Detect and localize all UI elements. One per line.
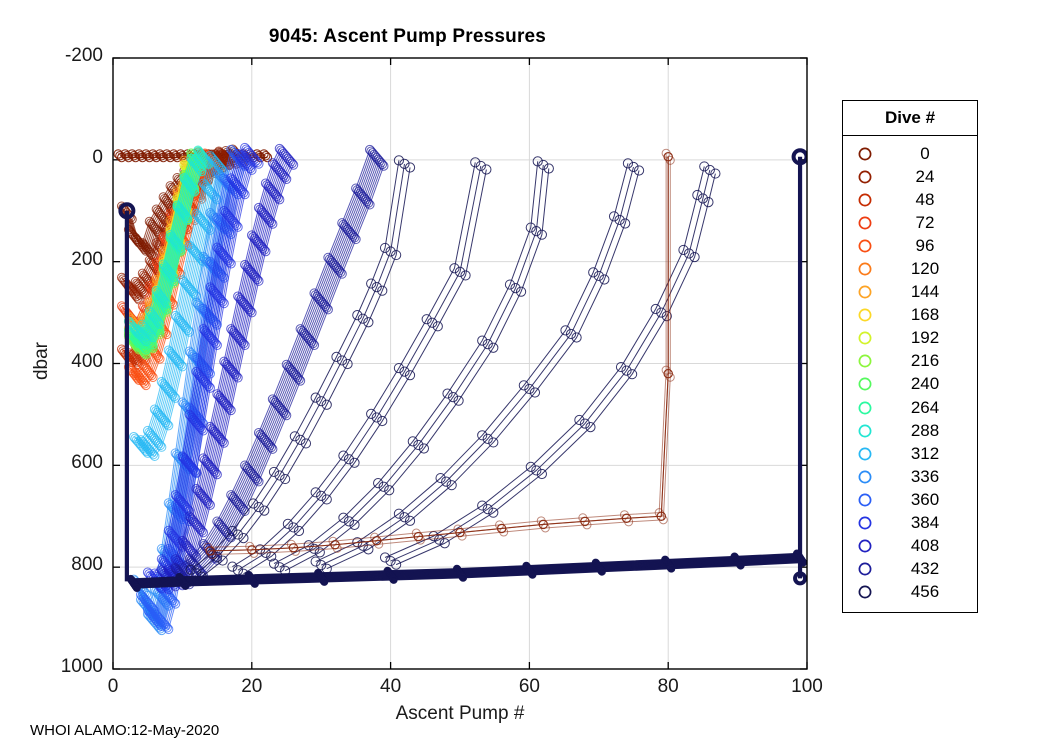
legend-label: 120	[887, 259, 977, 279]
y-tick-label: 0	[33, 147, 103, 169]
circle-marker-icon	[843, 469, 887, 485]
legend-row[interactable]: 264	[843, 396, 977, 419]
y-tick-label: -200	[33, 45, 103, 67]
legend-row[interactable]: 72	[843, 211, 977, 234]
legend-row[interactable]: 192	[843, 327, 977, 350]
y-tick-label: 400	[33, 351, 103, 373]
x-tick-label: 60	[494, 676, 564, 698]
legend-label: 240	[887, 374, 977, 394]
legend-title: Dive #	[843, 101, 977, 136]
legend-row[interactable]: 168	[843, 304, 977, 327]
circle-marker-icon	[843, 146, 887, 162]
legend-label: 408	[887, 536, 977, 556]
x-tick-label: 80	[633, 676, 703, 698]
circle-marker-icon	[843, 400, 887, 416]
circle-marker-icon	[843, 192, 887, 208]
legend-label: 168	[887, 305, 977, 325]
legend-row[interactable]: 48	[843, 188, 977, 211]
legend-row[interactable]: 336	[843, 465, 977, 488]
circle-marker-icon	[843, 261, 887, 277]
legend-label: 312	[887, 444, 977, 464]
circle-marker-icon	[843, 330, 887, 346]
legend-row[interactable]: 216	[843, 350, 977, 373]
circle-marker-icon	[843, 284, 887, 300]
legend-row[interactable]: 0	[843, 142, 977, 165]
x-tick-label: 100	[772, 676, 842, 698]
legend-label: 336	[887, 467, 977, 487]
legend-row[interactable]: 96	[843, 234, 977, 257]
legend-row[interactable]: 24	[843, 165, 977, 188]
footer-caption: WHOI ALAMO:12-May-2020	[30, 722, 219, 739]
legend-box: Dive # 024487296120144168192216240264288…	[842, 100, 978, 613]
legend-row[interactable]: 384	[843, 512, 977, 535]
y-tick-label: 800	[33, 554, 103, 576]
legend-label: 288	[887, 421, 977, 441]
legend-row[interactable]: 312	[843, 442, 977, 465]
legend-row[interactable]: 288	[843, 419, 977, 442]
x-tick-label: 0	[78, 676, 148, 698]
legend-row[interactable]: 144	[843, 281, 977, 304]
x-tick-label: 20	[217, 676, 287, 698]
legend-label: 192	[887, 328, 977, 348]
y-tick-label: 1000	[33, 656, 103, 678]
legend-row[interactable]: 408	[843, 535, 977, 558]
legend-row[interactable]: 432	[843, 558, 977, 581]
legend-row[interactable]: 240	[843, 373, 977, 396]
page-title: 9045: Ascent Pump Pressures	[0, 26, 815, 48]
circle-marker-icon	[843, 215, 887, 231]
circle-marker-icon	[843, 423, 887, 439]
circle-marker-icon	[843, 515, 887, 531]
legend-row[interactable]: 360	[843, 488, 977, 511]
legend-label: 48	[887, 190, 977, 210]
legend-label: 264	[887, 398, 977, 418]
legend-label: 432	[887, 559, 977, 579]
x-tick-label: 40	[356, 676, 426, 698]
y-tick-label: 200	[33, 249, 103, 271]
circle-marker-icon	[843, 376, 887, 392]
circle-marker-icon	[843, 238, 887, 254]
legend-label: 72	[887, 213, 977, 233]
legend-label: 0	[887, 144, 977, 164]
circle-marker-icon	[843, 446, 887, 462]
legend-label: 216	[887, 351, 977, 371]
circle-marker-icon	[843, 307, 887, 323]
legend-items: 0244872961201441681922162402642883123363…	[843, 136, 977, 612]
circle-marker-icon	[843, 169, 887, 185]
legend-row[interactable]: 120	[843, 257, 977, 280]
legend-row[interactable]: 456	[843, 581, 977, 604]
y-tick-label: 600	[33, 452, 103, 474]
figure-container: 9045: Ascent Pump Pressures dbar Ascent …	[0, 0, 1050, 750]
legend-label: 456	[887, 582, 977, 602]
circle-marker-icon	[843, 584, 887, 600]
legend-label: 96	[887, 236, 977, 256]
circle-marker-icon	[843, 492, 887, 508]
legend-label: 360	[887, 490, 977, 510]
legend-label: 144	[887, 282, 977, 302]
circle-marker-icon	[843, 538, 887, 554]
circle-marker-icon	[843, 353, 887, 369]
legend-label: 24	[887, 167, 977, 187]
circle-marker-icon	[843, 561, 887, 577]
legend-label: 384	[887, 513, 977, 533]
